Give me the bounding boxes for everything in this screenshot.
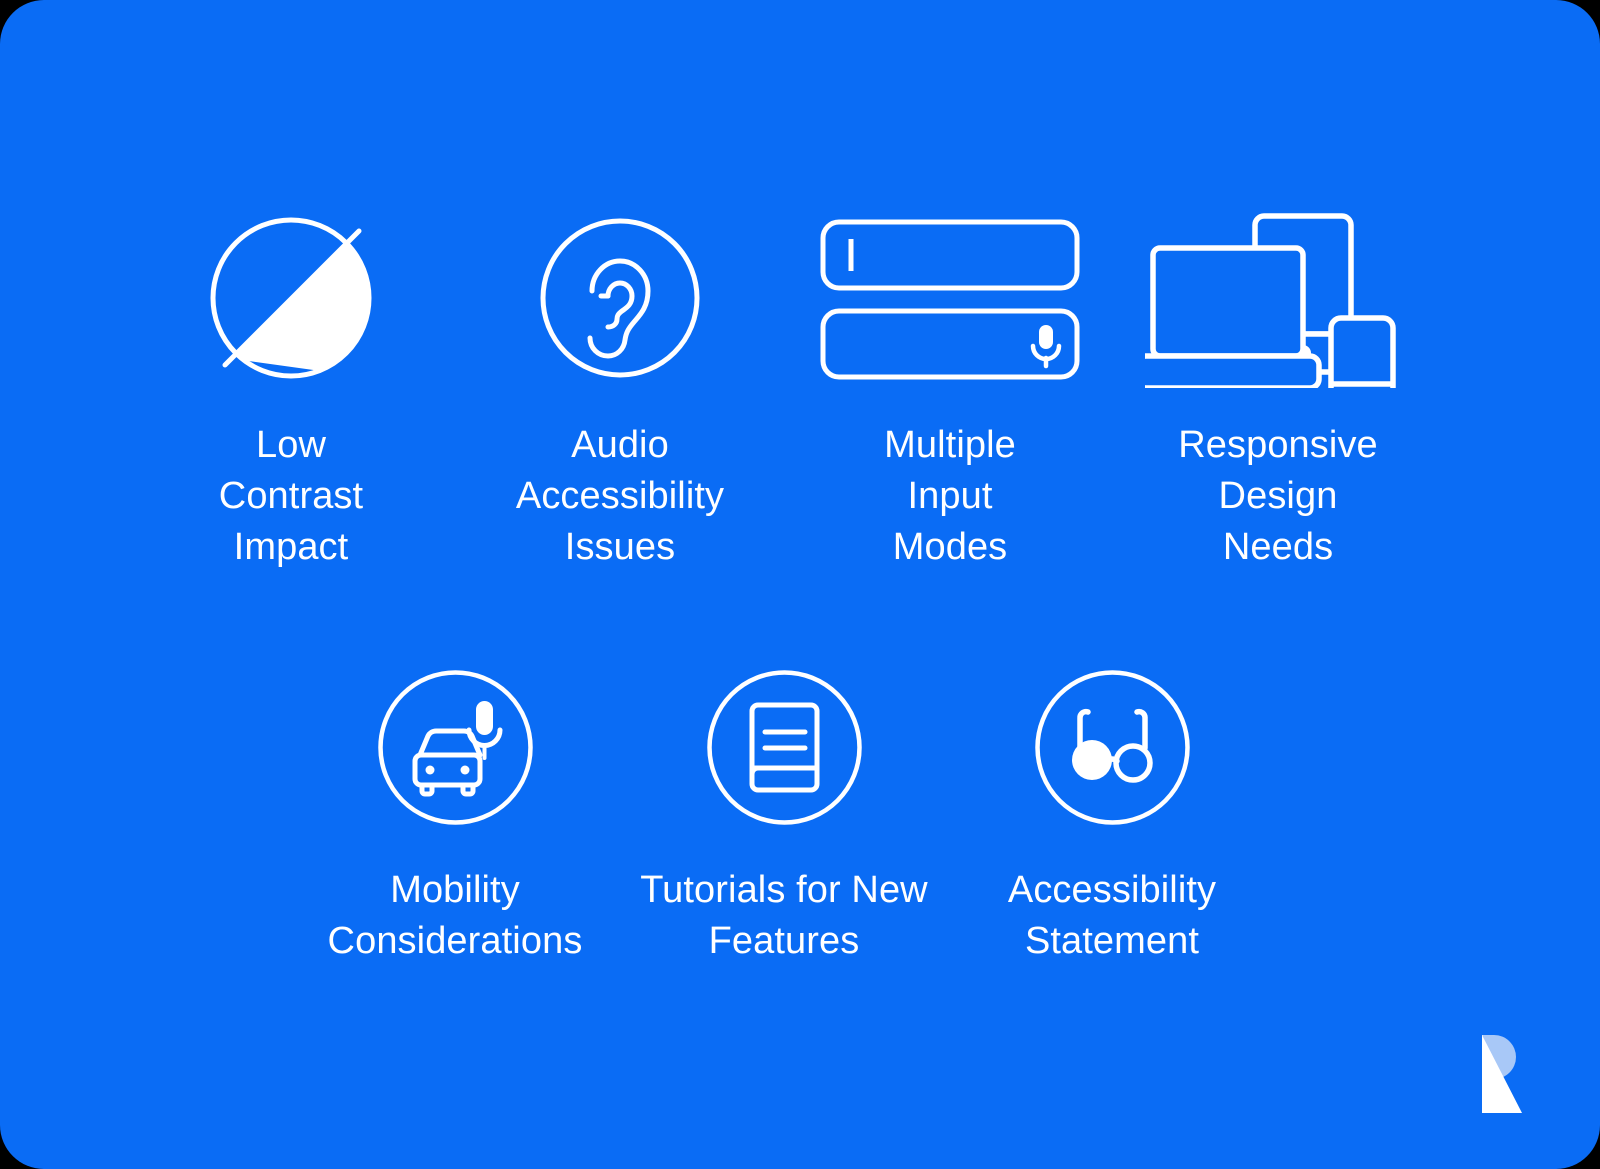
text-and-voice-input-icon (817, 208, 1083, 388)
multi-device-icon (1145, 208, 1411, 388)
accessibility-topics-card: Low Contrast Impact Audio Accessibility … (0, 0, 1600, 1169)
topic-low-contrast-impact[interactable]: Low Contrast Impact (131, 208, 451, 573)
topic-label: Accessibility Statement (1008, 865, 1216, 967)
book-in-circle-icon (697, 660, 872, 835)
topics-grid: Low Contrast Impact Audio Accessibility … (0, 0, 1600, 1169)
car-microphone-in-circle-icon (368, 660, 543, 835)
brand-r-logo (1460, 1035, 1524, 1113)
glasses-in-circle-icon (1025, 660, 1200, 835)
topic-label: Audio Accessibility Issues (516, 420, 724, 573)
topic-label: Mobility Considerations (328, 865, 583, 967)
topic-audio-accessibility-issues[interactable]: Audio Accessibility Issues (460, 208, 780, 573)
topic-label: Tutorials for New Features (640, 865, 927, 967)
topic-responsive-design-needs[interactable]: Responsive Design Needs (1118, 208, 1438, 573)
topic-mobility-considerations[interactable]: Mobility Considerations (295, 660, 615, 967)
topic-label: Low Contrast Impact (219, 420, 363, 573)
contrast-circle-icon (201, 208, 381, 388)
topic-label: Responsive Design Needs (1178, 420, 1378, 573)
ear-in-circle-icon (530, 208, 710, 388)
topic-tutorials-for-new-features[interactable]: Tutorials for New Features (624, 660, 944, 967)
topic-accessibility-statement[interactable]: Accessibility Statement (952, 660, 1272, 967)
topic-label: Multiple Input Modes (884, 420, 1016, 573)
topic-multiple-input-modes[interactable]: Multiple Input Modes (790, 208, 1110, 573)
